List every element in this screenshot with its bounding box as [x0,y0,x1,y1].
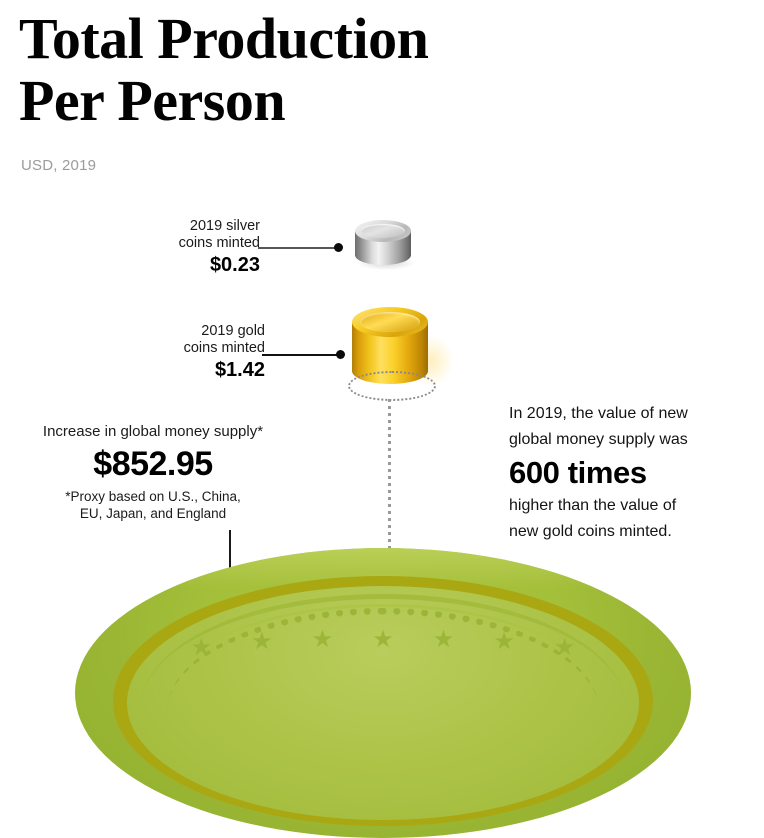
callout-gold-label: 2019 gold coins minted [40,323,265,357]
statement-line-3: higher than the value of [509,493,745,519]
infographic-canvas: Total Production Per Person USD, 2019 20… [0,0,764,621]
green-disc-star-row: ★ ★ ★ ★ ★ ★ ★ [171,628,595,668]
green-coin-disc-icon: ★ ★ ★ ★ ★ ★ ★ [75,548,691,838]
star-icon: ★ [554,636,576,660]
gold-coin-top-inner [360,312,420,332]
callout-money-supply-footnote: *Proxy based on U.S., China, EU, Japan, … [8,489,298,522]
callout-gold: 2019 gold coins minted $1.42 [40,323,265,383]
gold-coin-dotted-base [348,371,436,401]
star-icon: ★ [372,628,394,652]
statement-line-1: In 2019, the value of new [509,401,745,427]
gold-coin-stack-icon [352,307,428,395]
callout-silver-value: $0.23 [40,253,260,278]
statement-highlight: 600 times [509,455,745,491]
callout-silver: 2019 silver coins minted $0.23 [40,218,260,278]
statement-line-2: global money supply was [509,427,745,453]
leader-line-gold [262,354,340,356]
callout-money-supply-value: $852.95 [8,444,298,484]
callout-gold-value: $1.42 [40,358,265,383]
star-icon: ★ [191,636,213,660]
star-icon: ★ [493,630,515,654]
callout-money-supply: Increase in global money supply* $852.95… [8,422,298,522]
silver-coin-top-inner [361,224,405,238]
page-title: Total Production Per Person [19,8,619,132]
callout-money-supply-label: Increase in global money supply* [8,422,298,441]
star-icon: ★ [433,628,455,652]
page-subtitle: USD, 2019 [21,157,96,174]
leader-line-silver [258,247,338,249]
callout-silver-label: 2019 silver coins minted [40,218,260,252]
statement-line-4: new gold coins minted. [509,519,745,545]
star-icon: ★ [312,628,334,652]
statement-block: In 2019, the value of new global money s… [509,401,745,545]
leader-dot-silver [334,243,343,252]
leader-dot-gold [336,350,345,359]
star-icon: ★ [251,630,273,654]
silver-coin-stack-icon [355,220,411,275]
dotted-drop-line [388,399,391,549]
